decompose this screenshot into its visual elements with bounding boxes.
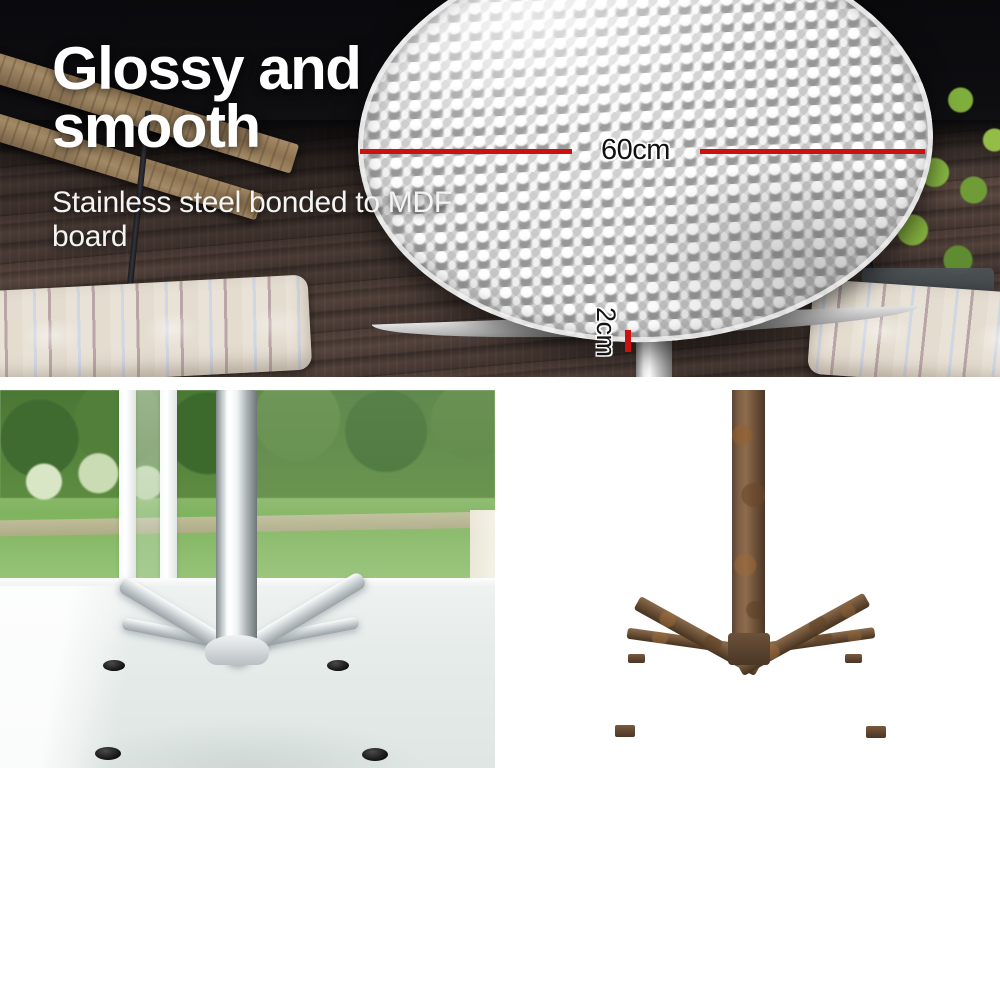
hero-headline: Glossy and smooth [52, 40, 472, 155]
hero-product-photo: 60cm 2cm Glossy and smooth Stainless ste… [0, 0, 1000, 377]
thickness-tick [625, 330, 631, 352]
hero-subtitle: Stainless steel bonded to MDF board [52, 186, 482, 253]
window-pane-right [245, 390, 495, 590]
rusty-leg-tip [866, 726, 886, 738]
rusty-leg-tip [615, 725, 635, 737]
ours-product-photo: 58mm [0, 390, 495, 768]
rubber-foot [327, 660, 349, 671]
diameter-line-right [700, 149, 925, 154]
thickness-label: 2cm [590, 307, 621, 357]
infographic-page: 60cm 2cm Glossy and smooth Stainless ste… [0, 0, 1000, 1000]
aluminium-pole [216, 390, 257, 645]
striped-cushion [0, 274, 312, 377]
rubber-foot [362, 748, 388, 761]
rusty-steel-pole [732, 390, 765, 640]
diameter-label: 60cm [601, 134, 670, 167]
window-glass [136, 390, 162, 590]
rusty-leg-tip [628, 654, 645, 663]
rubber-foot [95, 747, 121, 760]
window-mullion [160, 390, 177, 590]
rusty-base-hub [728, 633, 770, 665]
comparison-section: Ours Aluminium pole Light and steady. VS… [0, 770, 1000, 1000]
window-mullion [119, 390, 136, 590]
others-product-photo [500, 390, 1000, 768]
rusty-leg-tip [845, 654, 862, 663]
base-hub [205, 635, 269, 665]
rubber-foot [103, 660, 125, 671]
